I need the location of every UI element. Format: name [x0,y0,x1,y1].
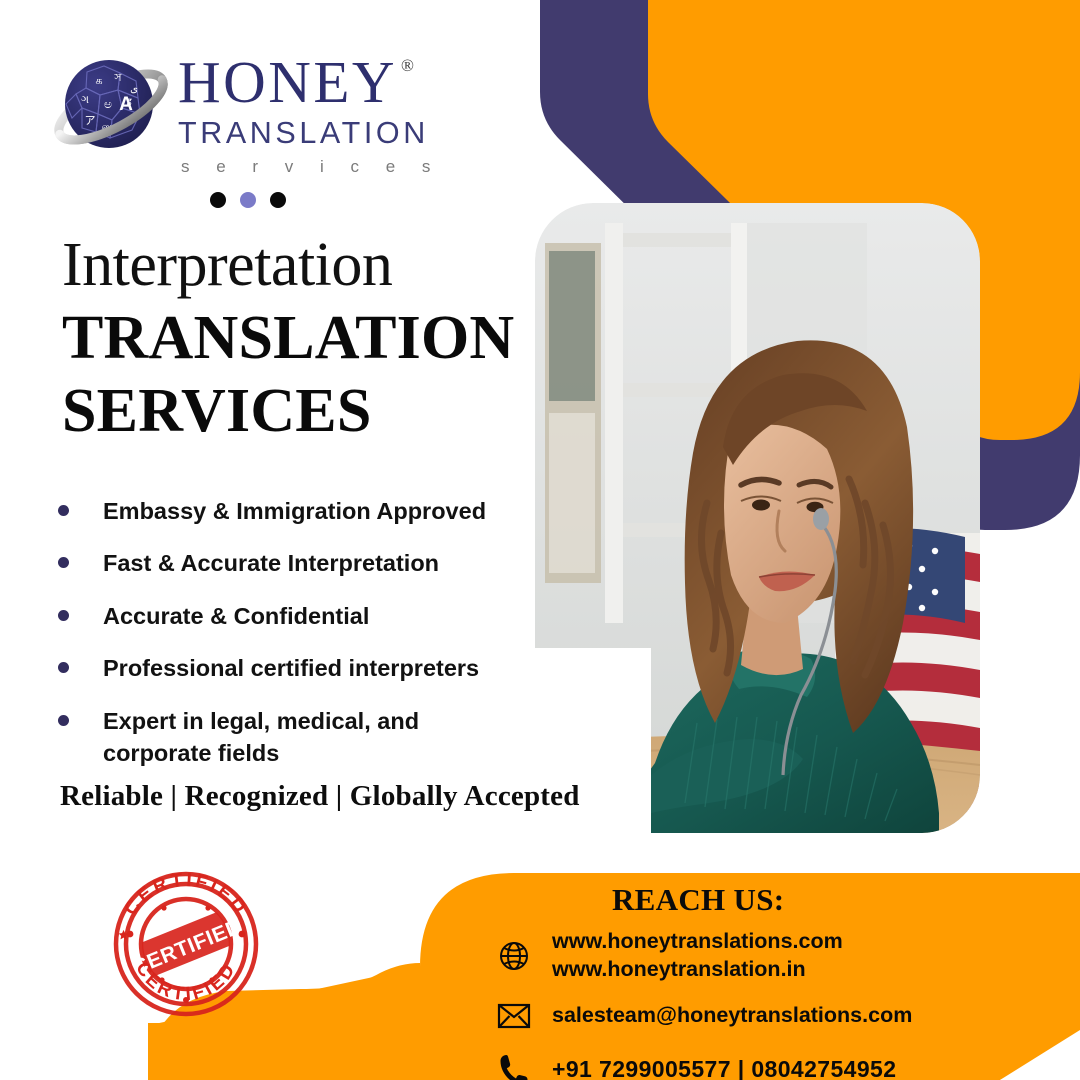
globe-icon [492,935,536,977]
dot-2 [240,192,256,208]
list-item: Accurate & Confidential [58,600,528,632]
list-item: Embassy & Immigration Approved [58,495,528,527]
logo-secondary-text: TRANSLATION [178,114,441,152]
list-item: Fast & Accurate Interpretation [58,547,528,579]
website-line-2[interactable]: www.honeytranslation.in [552,956,843,984]
list-item-label: Fast & Accurate Interpretation [103,547,439,579]
list-item-label: Accurate & Confidential [103,600,369,632]
bullet-dot-icon [58,715,69,726]
svg-text:ગ: ગ [81,93,89,106]
dot-3 [270,192,286,208]
list-item: Expert in legal, medical, and corporate … [58,705,528,770]
poster-canvas: க স ی ગ ಅ ह ア ஸ ন A HONEY [0,0,1080,1080]
headline-group: Interpretation TRANSLATION SERVICES [62,232,514,445]
envelope-icon [492,995,536,1037]
decorative-dots [210,192,286,208]
dot-1 [210,192,226,208]
logo-primary-text: HONEY [178,54,397,112]
features-list: Embassy & Immigration Approved Fast & Ac… [58,495,528,770]
contact-row-email[interactable]: salesteam@honeytranslations.com [492,995,1052,1037]
registered-trademark-icon: ® [401,56,414,76]
svg-text:ア: ア [85,114,96,127]
svg-text:A: A [119,94,133,115]
bullet-dot-icon [58,610,69,621]
contact-row-phone[interactable]: +91 7299005577 | 08042754952 [492,1049,1052,1080]
contact-row-website[interactable]: www.honeytranslations.com www.honeytrans… [492,928,1052,983]
list-item-label: Embassy & Immigration Approved [103,495,486,527]
bullet-dot-icon [58,557,69,568]
tagline: Reliable | Recognized | Globally Accepte… [60,780,580,813]
contact-details: www.honeytranslations.com www.honeytrans… [492,928,1052,1080]
website-line-1[interactable]: www.honeytranslations.com [552,928,843,956]
email-address[interactable]: salesteam@honeytranslations.com [552,1002,912,1030]
headline-main-line-1: TRANSLATION [62,305,514,372]
stamp-ring-text-top: CERTIFIED [120,870,251,920]
certified-stamp-icon: CERTIFIED CERTIFIED CERTIFIED [104,868,269,1018]
reach-us-heading: REACH US: [612,882,784,918]
svg-text:স: স [113,71,122,84]
phone-numbers[interactable]: +91 7299005577 | 08042754952 [552,1055,896,1080]
headline-main-line-2: SERVICES [62,378,514,445]
globe-languages-icon: க স ی ગ ಅ ह ア ஸ ন A [52,48,170,166]
bullet-dot-icon [58,505,69,516]
headline-script-line: Interpretation [62,232,514,299]
svg-text:க: க [95,74,102,87]
list-item-label: Expert in legal, medical, and corporate … [103,705,503,770]
logo-wordmark: HONEY ® TRANSLATION s e r v i c e s [178,48,441,178]
phone-icon [492,1049,536,1080]
bullet-dot-icon [58,662,69,673]
brand-logo[interactable]: க স ی ગ ಅ ह ア ஸ ন A HONEY [52,48,472,173]
svg-text:ಅ: ಅ [104,97,112,111]
list-item-label: Professional certified interpreters [103,652,479,684]
logo-tertiary-text: s e r v i c e s [181,156,441,178]
list-item: Professional certified interpreters [58,652,528,684]
